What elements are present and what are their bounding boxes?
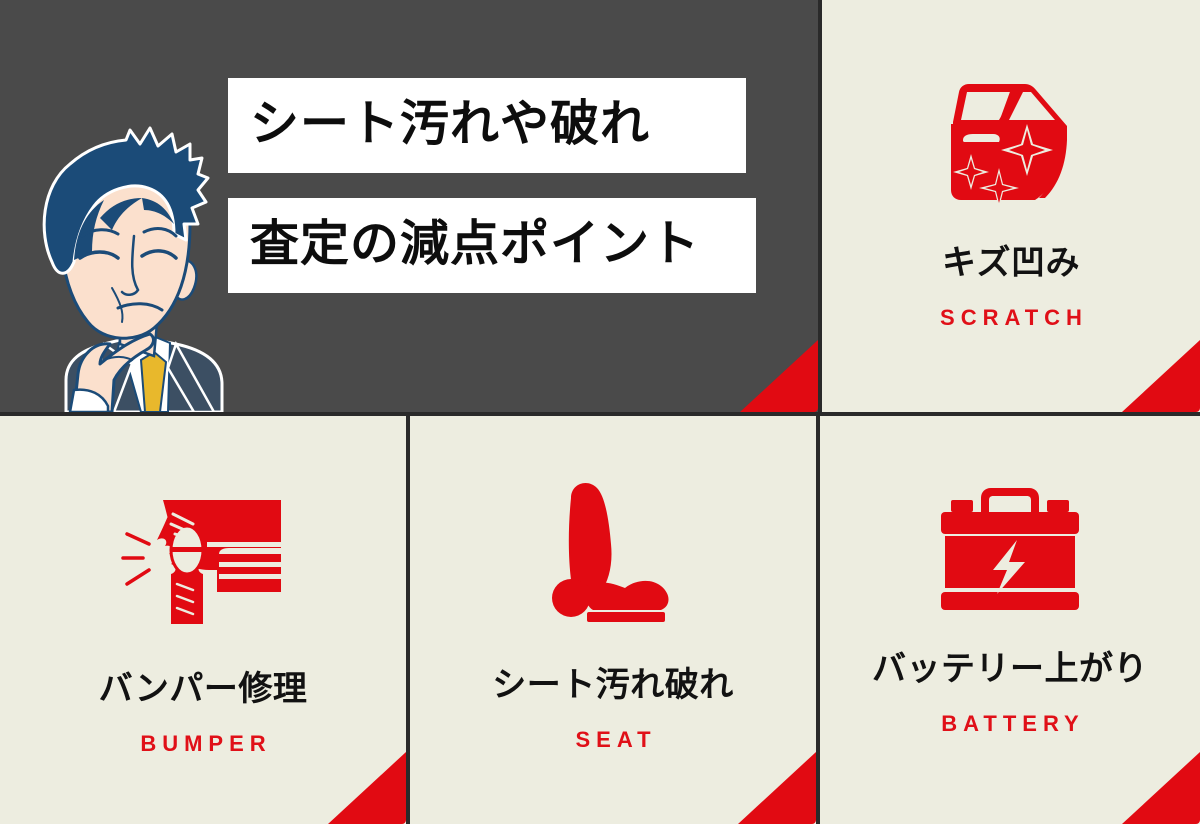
card-label-ja: バンパー修理	[99, 672, 308, 706]
corner-triangle-decoration	[1122, 340, 1200, 412]
hero-title-block: シート汚れや破れ 査定の減点ポイント	[228, 78, 756, 293]
hero-title-line1: シート汚れや破れ	[228, 78, 746, 173]
card-bumper[interactable]: バンパー修理 BUMPER	[0, 416, 406, 824]
thinking-businessman-illustration	[8, 112, 258, 412]
corner-triangle-decoration	[328, 752, 406, 824]
dented-bumper-icon	[121, 492, 286, 632]
hero-card: シート汚れや破れ 査定の減点ポイント	[0, 0, 818, 412]
corner-triangle-decoration	[738, 752, 816, 824]
card-label-en: BATTERY	[935, 713, 1084, 735]
card-label-ja: シート汚れ破れ	[492, 668, 734, 702]
card-label-en: BUMPER	[134, 733, 271, 755]
corner-triangle-decoration	[1122, 752, 1200, 824]
card-label-ja: キズ凹み	[942, 246, 1080, 280]
card-label-en: SEAT	[569, 729, 656, 751]
car-battery-icon	[935, 482, 1085, 612]
card-battery[interactable]: バッテリー上がり BATTERY	[820, 416, 1200, 824]
infographic-canvas: シート汚れや破れ 査定の減点ポイント	[0, 0, 1200, 824]
car-seat-icon	[543, 476, 683, 626]
card-seat[interactable]: シート汚れ破れ SEAT	[410, 416, 816, 824]
car-door-scratch-icon	[941, 78, 1081, 208]
corner-triangle-decoration	[740, 340, 818, 412]
card-scratch[interactable]: キズ凹み SCRATCH	[822, 0, 1200, 412]
hero-title-line2: 査定の減点ポイント	[228, 198, 756, 293]
card-label-ja: バッテリー上がり	[872, 652, 1148, 686]
card-label-en: SCRATCH	[934, 307, 1088, 329]
